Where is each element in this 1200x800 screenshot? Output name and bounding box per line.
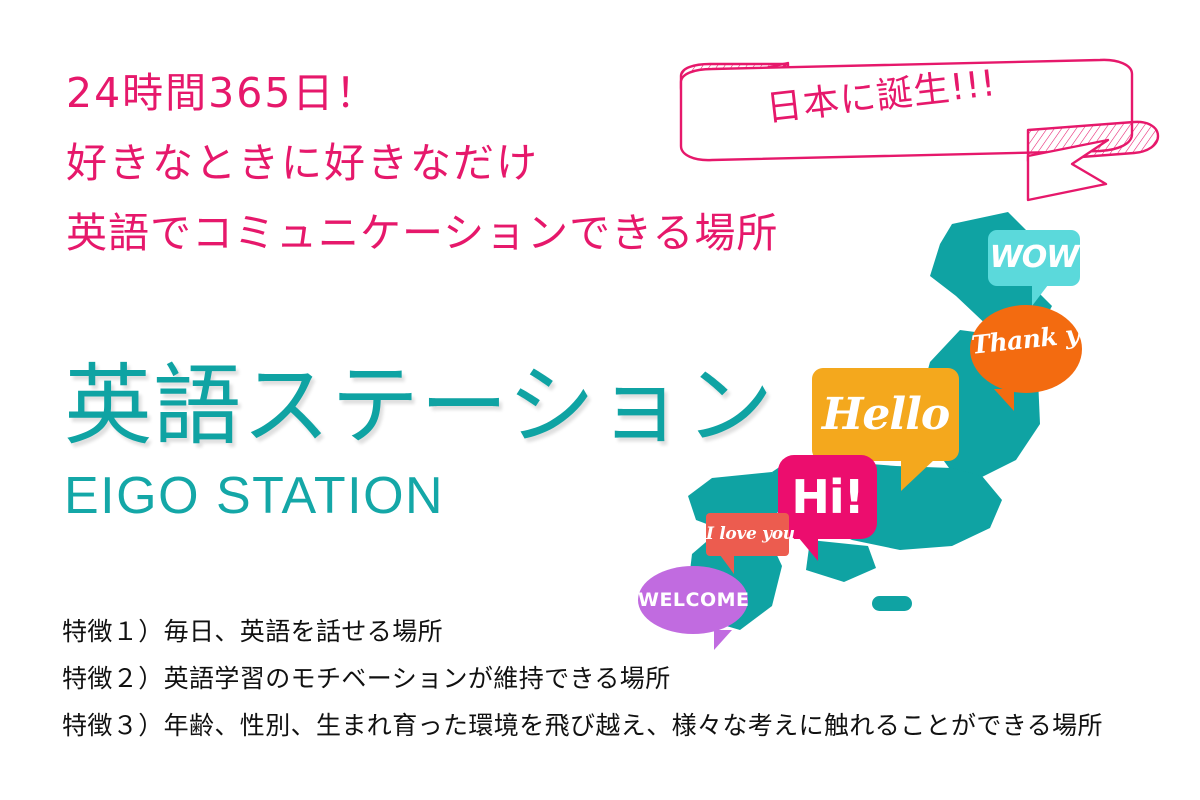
feature-list: 特徴１）毎日、英語を話せる場所 特徴２）英語学習のモチベーションが維持できる場所… [62,608,1172,749]
main-title: 英語ステーション [64,352,774,460]
speech-bubble-wow: WOW [988,230,1080,286]
bubble-text-hello: Hello [812,368,959,461]
title-block: 英語ステーション EIGO STATION [64,352,774,526]
ribbon-banner: 日本に誕生!!! [648,18,1168,208]
feature-item-1: 特徴１）毎日、英語を話せる場所 [62,608,1172,655]
poster-canvas: 24時間365日！ 好きなときに好きなだけ 英語でコミュニケーションできる場所 [0,0,1200,800]
bubble-text-wow: WOW [988,230,1080,286]
feature-item-3: 特徴３）年齢、性別、生まれ育った環境を飛び越え、様々な考えに触れることができる場… [62,702,1172,749]
feature-item-2: 特徴２）英語学習のモチベーションが維持できる場所 [62,655,1172,702]
sub-title: EIGO STATION [64,466,774,526]
speech-bubble-thankyou: Thank you! [970,305,1082,393]
speech-bubble-hello: Hello [812,368,959,461]
